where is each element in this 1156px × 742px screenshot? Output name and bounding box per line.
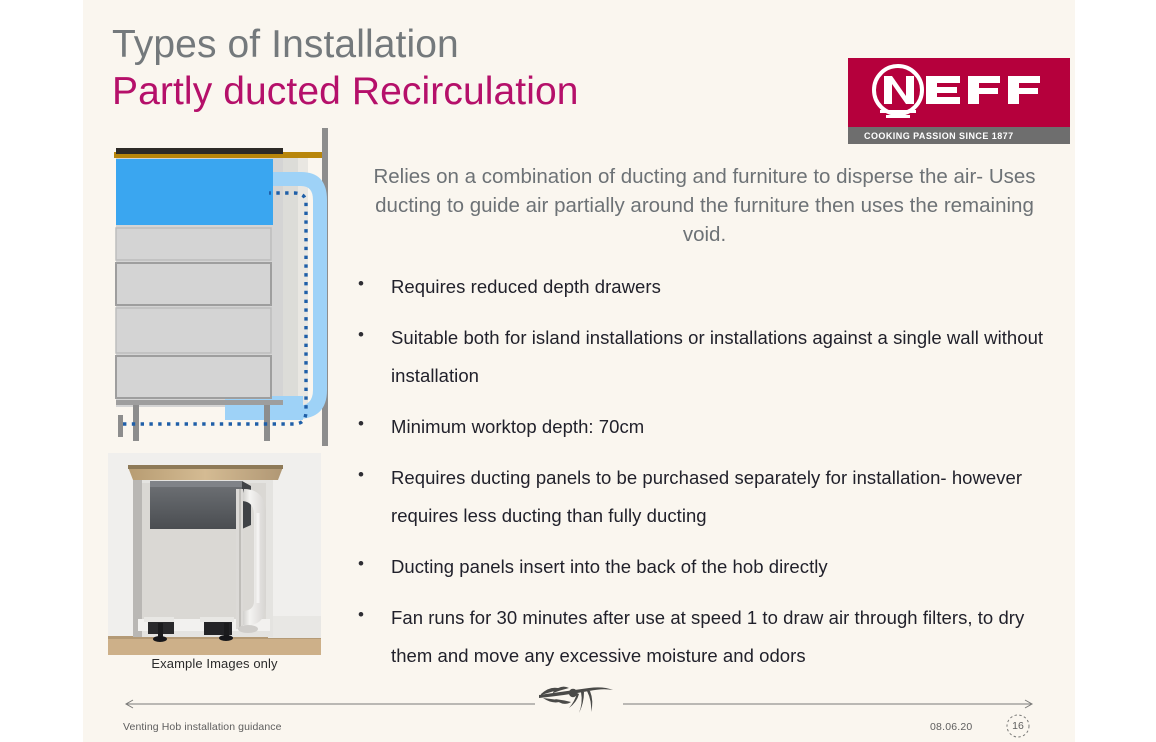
bullet-marker-icon: • [351,408,391,439]
page-title: Types of Installation Partly ducted Reci… [112,22,812,115]
olive-sprig-icon [533,681,625,717]
list-item-label: Ducting panels insert into the back of t… [391,548,1061,586]
bullet-marker-icon: • [351,319,391,350]
list-item: • Minimum worktop depth: 70cm [351,408,1061,446]
page-number-badge: 16 [1005,713,1031,739]
list-item-label: Fan runs for 30 minutes after use at spe… [391,599,1061,675]
list-item-label: Suitable both for island installations o… [391,319,1061,395]
feature-bullet-list: • Requires reduced depth drawers • Suita… [351,268,1061,688]
footer-document-title: Venting Hob installation guidance [123,721,282,733]
footer-date: 08.06.20 [930,721,972,733]
photo-caption: Example Images only [108,656,321,671]
list-item-label: Minimum worktop depth: 70cm [391,408,1061,446]
bullet-marker-icon: • [351,268,391,299]
bullet-marker-icon: • [351,459,391,490]
list-item-label: Requires reduced depth drawers [391,268,1061,306]
list-item: • Suitable both for island installations… [351,319,1061,395]
installation-example-photo [108,453,321,655]
title-line-secondary: Partly ducted Recirculation [112,68,812,115]
intro-paragraph: Relies on a combination of ducting and f… [356,162,1053,249]
list-item: • Requires reduced depth drawers [351,268,1061,306]
neff-logo: COOKING PASSION SINCE 1877 [848,58,1070,144]
neff-logo-tagline: COOKING PASSION SINCE 1877 [848,131,1014,141]
list-item: • Fan runs for 30 minutes after use at s… [351,599,1061,675]
installation-schematic-diagram [101,128,346,448]
page-number-label: 16 [1005,713,1031,739]
bullet-marker-icon: • [351,548,391,579]
list-item: • Ducting panels insert into the back of… [351,548,1061,586]
list-item: • Requires ducting panels to be purchase… [351,459,1061,535]
neff-logo-tagline-bar: COOKING PASSION SINCE 1877 [848,127,1070,144]
title-line-primary: Types of Installation [112,22,812,68]
slide-canvas: Types of Installation Partly ducted Reci… [83,0,1075,742]
bullet-marker-icon: • [351,599,391,630]
list-item-label: Requires ducting panels to be purchased … [391,459,1061,535]
neff-logo-mark [848,58,1070,127]
